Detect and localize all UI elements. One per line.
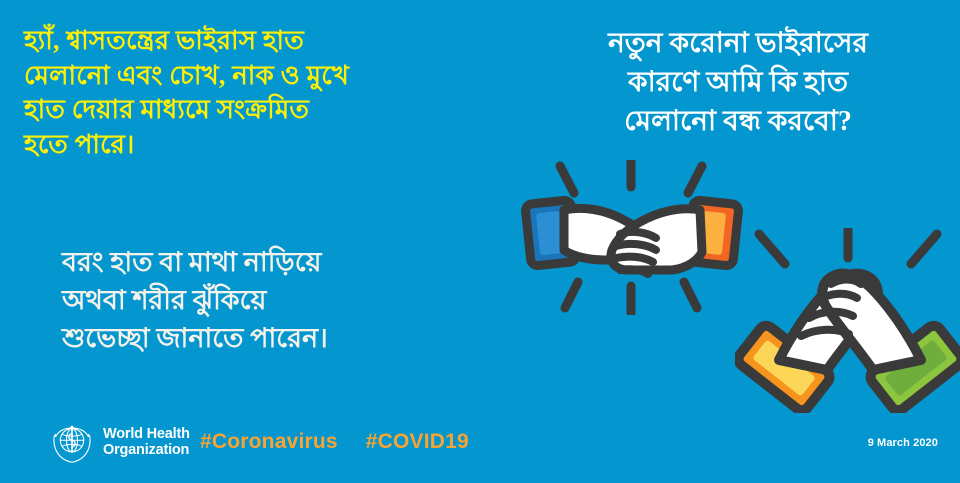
who-organization-name: World Health Organization (103, 427, 190, 458)
clasped-hands-icon (735, 228, 960, 413)
answer-primary-text: হ্যাঁ, শ্বাসতন্ত্রের ভাইরাস হাত মেলানো এ… (24, 24, 464, 162)
who-covid-infographic: হ্যাঁ, শ্বাসতন্ত্রের ভাইরাস হাত মেলানো এ… (0, 0, 960, 483)
who-logo: World Health Organization (50, 421, 190, 465)
hashtag-group: #Coronavirus #COVID19 (200, 430, 469, 454)
publication-date: 9 March 2020 (868, 437, 938, 449)
handshake-icon (512, 160, 752, 315)
hashtag-covid19: #COVID19 (366, 430, 469, 454)
hashtag-coronavirus: #Coronavirus (200, 430, 338, 454)
who-emblem-icon (50, 421, 94, 465)
answer-secondary-text: বরং হাত বা মাথা নাড়িয়ে অথবা শরীর ঝুঁকি… (62, 243, 512, 357)
footer-bar: World Health Organization #Coronavirus #… (0, 403, 960, 483)
motion-lines-icon (759, 228, 937, 264)
question-headline: নতুন করোনা ভাইরাসের কারণে আমি কি হাত মেল… (518, 24, 958, 142)
